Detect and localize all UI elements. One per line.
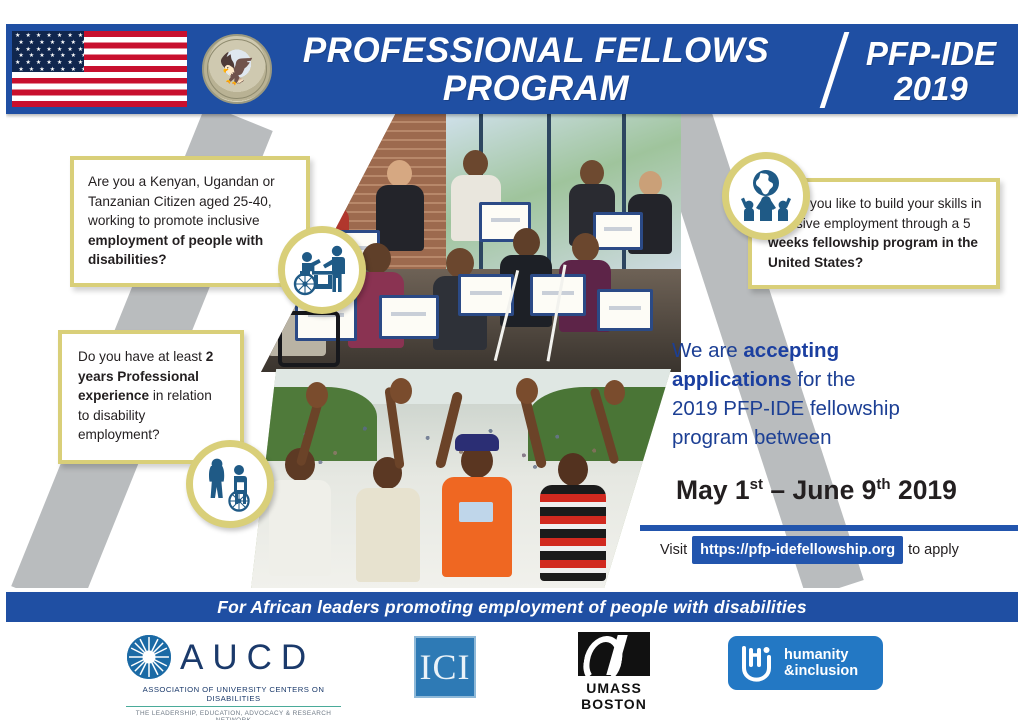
hi-line-1: humanity [784, 647, 858, 664]
program-code: PFP-IDE [866, 36, 996, 71]
callout-1-bold: employment of people with disabilities? [88, 233, 263, 268]
callout-eligibility-citizenship: Are you a Kenyan, Ugandan or Tanzanian C… [70, 156, 310, 287]
callout-3-normal-a: Do you have at least [78, 349, 206, 364]
header-divider-slash [820, 32, 850, 108]
apply-instruction: Visit https://pfp-idefellowship.org to a… [660, 535, 1020, 565]
aucd-starburst-icon [126, 634, 172, 680]
umass-line-1: UMASS [578, 680, 650, 696]
announcement-block: We are accepting applications for the 20… [672, 336, 1012, 452]
announcement-line1-normal: We are [672, 339, 743, 362]
woman-and-wheelchair-user-icon [186, 440, 274, 528]
callout-1-normal: Are you a Kenyan, Ugandan or Tanzanian C… [88, 174, 275, 228]
aucd-tagline-1: ASSOCIATION OF UNIVERSITY CENTERS ON DIS… [126, 685, 341, 707]
announcement-line1-bold: accepting [743, 339, 839, 362]
aucd-logo: AUCD ASSOCIATION OF UNIVERSITY CENTERS O… [126, 634, 341, 724]
announcement-line3: 2019 PFP-IDE fellowship [672, 397, 900, 420]
page-title-line1: PROFESSIONAL FELLOWS [303, 32, 769, 70]
header-banner: ★ ★ ★ ★ ★ ★ ★ ★ ★ ★ ★ ★ ★ ★ ★ ★ ★ ★ ★ ★ … [6, 24, 1018, 114]
frame-bottom [0, 720, 1024, 728]
visit-suffix: to apply [908, 542, 959, 558]
date-end-suffix: th [876, 476, 890, 493]
fellows-raised-joined-hands-photo [251, 369, 671, 588]
aucd-wordmark: AUCD [180, 640, 315, 675]
date-start-suffix: st [750, 476, 763, 493]
tagline-text: For African leaders promoting employment… [217, 597, 807, 618]
poster-canvas: ★ ★ ★ ★ ★ ★ ★ ★ ★ ★ ★ ★ ★ ★ ★ ★ ★ ★ ★ ★ … [0, 0, 1024, 728]
us-flag-icon: ★ ★ ★ ★ ★ ★ ★ ★ ★ ★ ★ ★ ★ ★ ★ ★ ★ ★ ★ ★ … [12, 31, 187, 107]
ici-logo: ICI [414, 636, 476, 698]
date-start: May 1 [676, 475, 750, 505]
umass-monogram-icon [578, 632, 650, 676]
date-year: 2019 [891, 475, 957, 505]
frame-top [0, 0, 1024, 24]
program-year: 2019 [894, 71, 967, 106]
hi-line-2: &inclusion [784, 663, 858, 680]
application-url-link[interactable]: https://pfp-idefellowship.org [692, 536, 903, 564]
ici-wordmark: ICI [414, 636, 476, 698]
tagline-bar: For African leaders promoting employment… [6, 592, 1018, 622]
program-code-badge: PFP-IDE 2019 [851, 36, 1011, 106]
wheelchair-handshake-icon [278, 226, 366, 314]
umass-line-2: BOSTON [578, 696, 650, 712]
blue-rule-divider [640, 525, 1020, 531]
frame-right [1018, 0, 1024, 728]
frame-left [0, 0, 6, 728]
page-title-line2: PROGRAM [443, 70, 629, 108]
hi-hand-icon [738, 644, 778, 682]
announcement-line4: program between [672, 426, 832, 449]
page-title: PROFESSIONAL FELLOWS PROGRAM [256, 30, 816, 110]
date-separator: – June 9 [763, 475, 876, 505]
visit-label: Visit [660, 542, 687, 558]
partner-logo-strip: AUCD ASSOCIATION OF UNIVERSITY CENTERS O… [6, 622, 1018, 720]
announcement-line2-bold: applications [672, 368, 792, 391]
humanity-and-inclusion-logo: humanity &inclusion [728, 636, 883, 690]
umass-boston-logo: UMASS BOSTON [578, 632, 650, 712]
africa-globe-people-icon [722, 152, 810, 240]
application-dates: May 1st – June 9th 2019 [676, 470, 1006, 505]
announcement-line2-normal: for the [792, 368, 856, 391]
callout-2-bold: weeks fellowship program in the United S… [768, 235, 978, 270]
